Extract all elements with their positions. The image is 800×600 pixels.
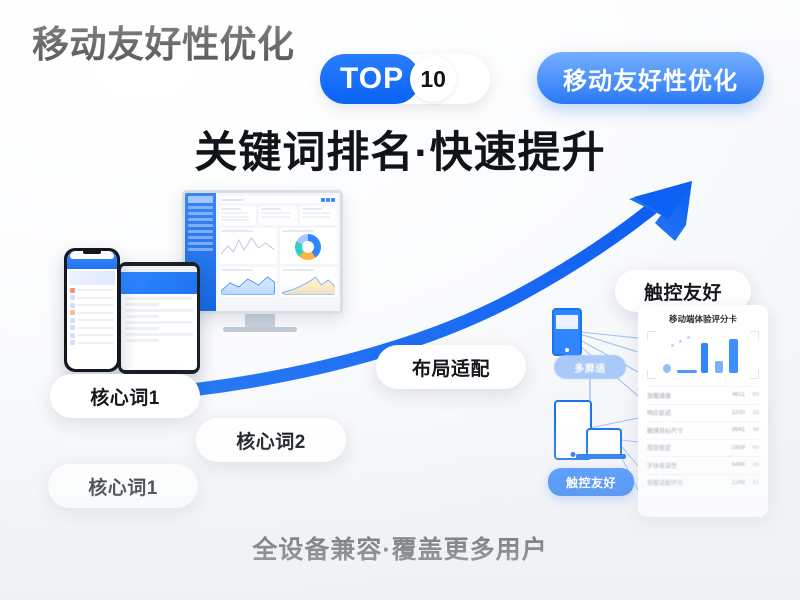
row-value: 5486 (721, 462, 745, 468)
monitor-base (223, 327, 297, 332)
phone-list-item (70, 333, 114, 338)
dashboard-logo (188, 196, 213, 203)
row-score: 36 (745, 427, 759, 433)
donut-icon (295, 234, 321, 260)
phone-mockup (64, 248, 120, 372)
table-row: 响应延迟 2200 18 (647, 404, 759, 422)
table-row: 触摸目标尺寸 3641 36 (647, 421, 759, 439)
rank-number: 10 (420, 66, 446, 93)
phone-list-item (70, 340, 114, 345)
phone-promo-card (69, 271, 115, 285)
monitor-screen (182, 190, 343, 314)
dashboard-chart-row (219, 228, 337, 264)
header-chip: 移动友好性优化 (537, 52, 764, 104)
dashboard-nav-item (188, 236, 213, 239)
bar-group (663, 333, 747, 373)
rank-circle: 10 (410, 56, 456, 102)
row-metric: 字体易读性 (647, 461, 721, 470)
dashboard-card (219, 206, 256, 225)
bar-2 (715, 361, 723, 373)
score-card: 移动端体验评分卡 加载速度 4811 (638, 305, 768, 517)
phone-list-item (70, 303, 114, 308)
score-card-chart (647, 331, 759, 379)
tablet-screen (121, 266, 197, 370)
tablet-hero-banner (121, 272, 197, 294)
row-value: 3641 (721, 427, 745, 433)
row-metric: 视窗适配评分 (647, 478, 721, 487)
tablet-list-line (125, 315, 159, 318)
row-metric: 加载速度 (647, 391, 721, 400)
row-value: 2859 (721, 445, 745, 451)
keyword-pill-1[interactable]: 核心词1 (50, 374, 200, 418)
keyword-pill-2[interactable]: 核心词2 (196, 418, 346, 462)
row-score: 18 (745, 410, 759, 416)
monitor-stand (245, 314, 275, 327)
score-table: 加载速度 4811 99 响应延迟 2200 18 触摸目标尺寸 3641 36… (647, 386, 759, 491)
page-title: 关键词排名·快速提升 (0, 118, 800, 180)
phone-list-item (70, 295, 114, 300)
header-chip-label: 移动友好性优化 (563, 61, 738, 96)
bubble-marker (663, 364, 671, 373)
multi-screen-pill[interactable]: 多屏适 (554, 355, 626, 379)
touch-friendly-mini-pill[interactable]: 触控友好 (548, 468, 634, 496)
tablet-list-line (125, 309, 193, 312)
table-row: 字体易读性 5486 16 (647, 456, 759, 474)
tablet-mockup (118, 262, 200, 374)
poster-canvas: 移动友好性优化 TOP 10 移动友好性优化 关键词排名·快速提升 (0, 0, 800, 600)
row-metric: 视觉稳定 (647, 443, 721, 452)
phone-app-header (67, 253, 117, 269)
top-label-pill: TOP (320, 54, 420, 104)
phone-list-item (70, 318, 114, 323)
tablet-list-line (125, 333, 193, 336)
row-score: 60 (745, 445, 759, 451)
table-row: 视窗适配评分 2249 41 (647, 474, 759, 492)
tablet-list-line (125, 297, 193, 300)
laptop-base-icon (576, 454, 626, 459)
score-card-title: 移动端体验评分卡 (647, 313, 759, 325)
row-value: 4811 (721, 392, 745, 398)
row-score: 41 (745, 480, 759, 486)
row-value: 2249 (721, 480, 745, 486)
dot-marker (671, 344, 674, 347)
dashboard-line-chart (219, 228, 277, 264)
dashboard-nav-item (188, 242, 213, 245)
top-label: TOP (340, 62, 404, 96)
phone-list-item (70, 325, 114, 330)
row-metric: 触摸目标尺寸 (647, 426, 721, 435)
dashboard-area-chart (280, 267, 338, 297)
row-score: 99 (745, 392, 759, 398)
dashboard-nav-item (188, 230, 213, 233)
phone-notch (83, 250, 101, 254)
kicker-title: 移动友好性优化 (32, 26, 295, 63)
dashboard-filter-row (219, 206, 337, 225)
table-row: 视觉稳定 2859 60 (647, 439, 759, 457)
tablet-list-line (125, 339, 159, 342)
dashboard-card (300, 206, 337, 225)
dashboard-nav-item (188, 248, 213, 251)
dashboard-ui (185, 193, 340, 311)
dashboard-area-chart (219, 267, 277, 297)
dashboard-nav-item (188, 212, 213, 215)
table-row: 加载速度 4811 99 (647, 386, 759, 404)
footer-tagline: 全设备兼容·覆盖更多用户 (0, 530, 800, 566)
top-rank-badge: TOP 10 (320, 54, 490, 104)
device-mockups (30, 190, 340, 365)
dashboard-nav-item (188, 206, 213, 209)
row-score: 16 (745, 462, 759, 468)
keyword-pill-3[interactable]: 核心词1 (48, 464, 198, 508)
layout-adapt-pill[interactable]: 布局适配 (376, 345, 526, 389)
dashboard-area-row (219, 267, 337, 297)
dashboard-toolbar (219, 196, 337, 203)
tablet-list-line (125, 321, 193, 324)
bar-3 (701, 343, 708, 373)
tablet-list-line (125, 327, 159, 330)
row-value: 2200 (721, 410, 745, 416)
row-metric: 响应延迟 (647, 408, 721, 417)
bar-4 (729, 339, 738, 373)
dashboard-card (259, 206, 296, 225)
phone-list-item (70, 288, 114, 293)
tablet-list-line (125, 303, 159, 306)
mobile-score-panel: 多屏适 触控友好 移动端体验评分卡 (540, 300, 770, 520)
desktop-monitor-mockup (182, 190, 337, 325)
phone-screen (67, 251, 117, 369)
dashboard-nav-item (188, 218, 213, 221)
bar-baseline (677, 370, 697, 373)
small-phone-icon (552, 308, 582, 356)
dot-marker (687, 336, 690, 339)
dashboard-donut-chart (280, 228, 338, 264)
phone-list-item (70, 310, 114, 315)
dashboard-main (216, 193, 340, 311)
dot-marker (679, 340, 682, 343)
dashboard-nav-item (188, 224, 213, 227)
